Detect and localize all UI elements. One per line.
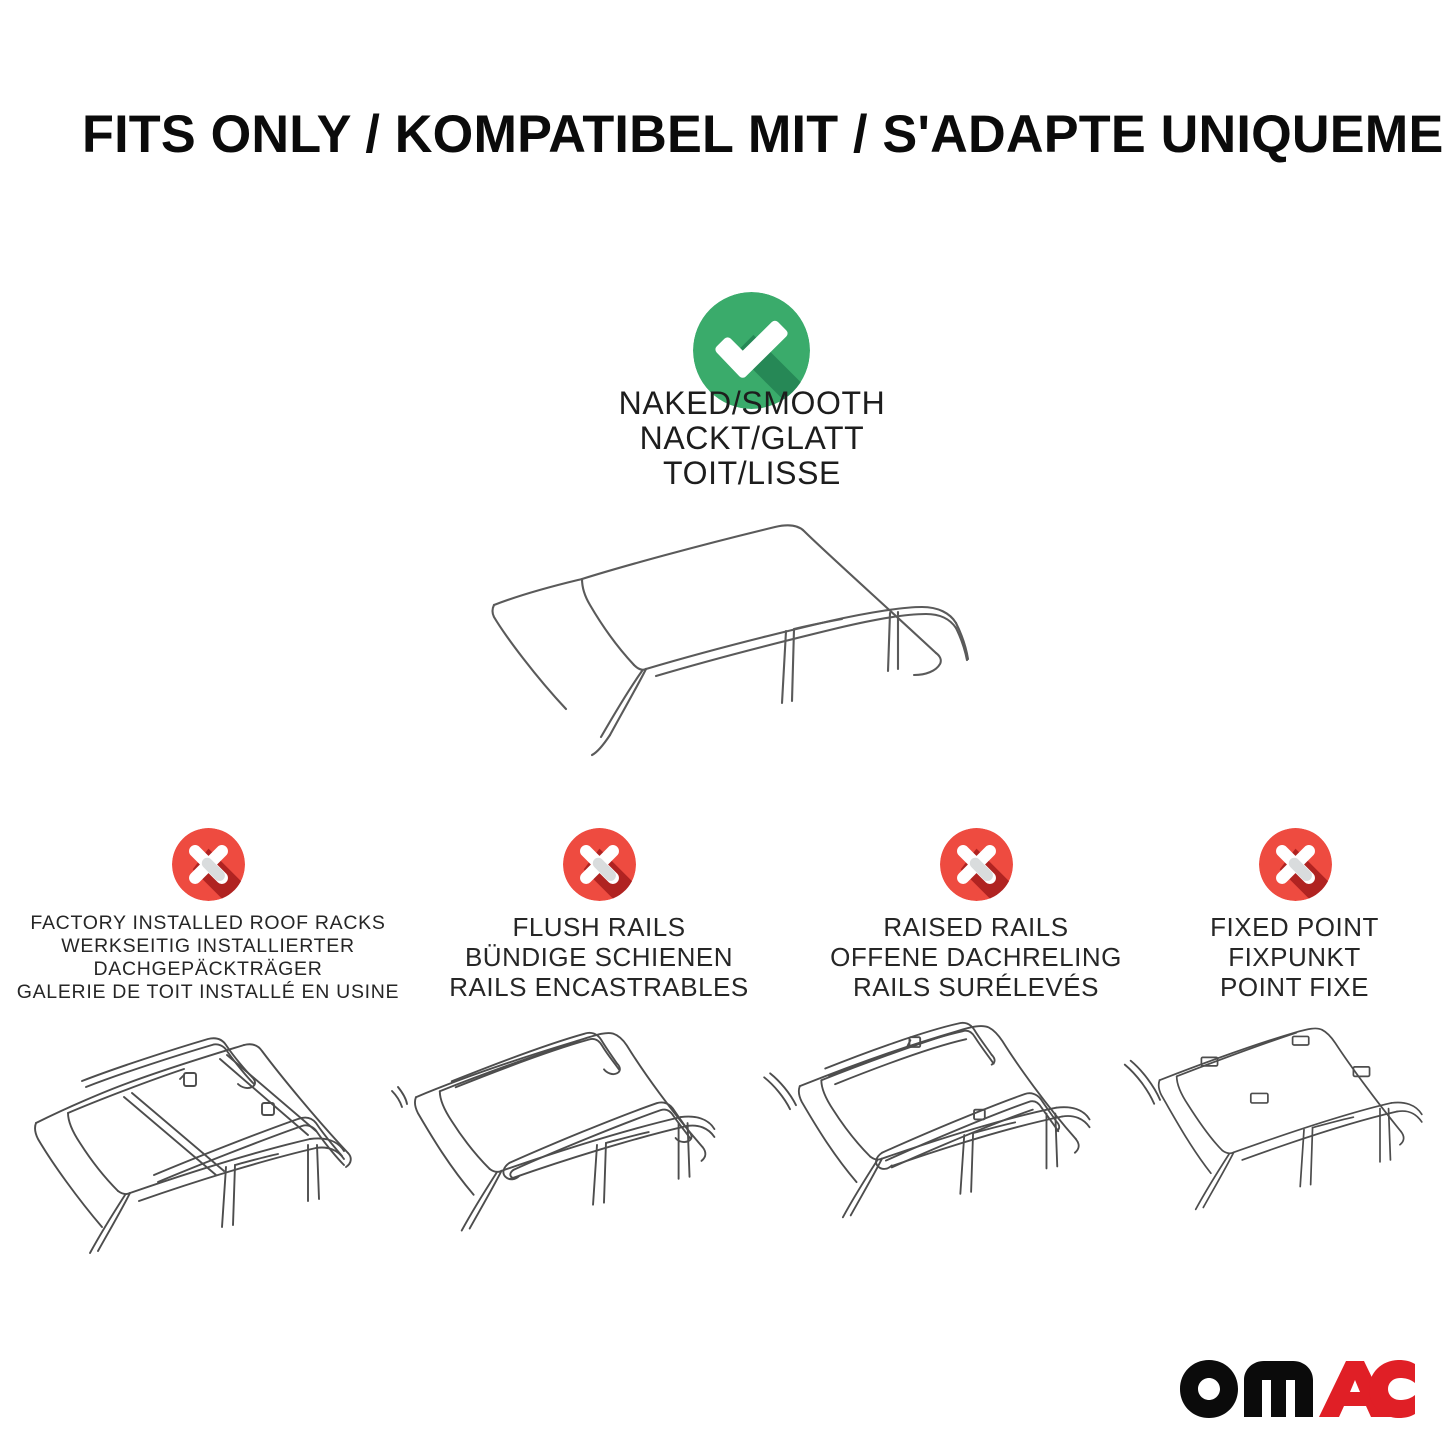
incompatible-item-factory-installed-roof-racks: FACTORY INSTALLED ROOF RACKS WERKSEITIG … <box>8 820 408 1290</box>
caption-line-de-2: DACHGEPÄCKTRÄGER <box>8 958 408 981</box>
car-roof-fixed-point-illustration <box>1152 1015 1437 1265</box>
caption-line-fr: GALERIE DE TOIT INSTALLÉ EN USINE <box>8 981 408 1004</box>
car-roof-factory-installed-roof-racks-illustration <box>8 1015 408 1265</box>
omac-logo <box>1178 1356 1418 1418</box>
compatible-line-de: NACKT/GLATT <box>522 421 982 456</box>
caption-line-de: OFFENE DACHRELING <box>790 942 1162 972</box>
caption-line-en: FACTORY INSTALLED ROOF RACKS <box>8 912 408 935</box>
caption-line-en: FIXED POINT <box>1152 912 1437 942</box>
incompatible-item-raised-rails: RAISED RAILS OFFENE DACHRELING RAILS SUR… <box>790 820 1162 1290</box>
cross-circle-icon <box>563 828 636 901</box>
compatible-caption: NAKED/SMOOTH NACKT/GLATT TOIT/LISSE <box>522 386 982 491</box>
caption-line-de-1: WERKSEITIG INSTALLIERTER <box>8 935 408 958</box>
incompatible-caption: FIXED POINT FIXPUNKT POINT FIXE <box>1152 912 1437 1002</box>
car-roof-flush-rails-illustration <box>400 1015 798 1265</box>
incompatible-item-flush-rails: FLUSH RAILS BÜNDIGE SCHIENEN RAILS ENCAS… <box>400 820 798 1290</box>
car-roof-raised-rails-illustration <box>790 1015 1162 1265</box>
incompatible-caption: FLUSH RAILS BÜNDIGE SCHIENEN RAILS ENCAS… <box>400 912 798 1002</box>
incompatible-caption: FACTORY INSTALLED ROOF RACKS WERKSEITIG … <box>8 912 408 1004</box>
caption-line-de: BÜNDIGE SCHIENEN <box>400 942 798 972</box>
car-roof-naked-smooth-illustration <box>470 495 990 765</box>
incompatible-caption: RAISED RAILS OFFENE DACHRELING RAILS SUR… <box>790 912 1162 1002</box>
caption-line-en: RAISED RAILS <box>790 912 1162 942</box>
caption-line-fr: POINT FIXE <box>1152 972 1437 1002</box>
caption-line-fr: RAILS SURÉLEVÉS <box>790 972 1162 1002</box>
page-title: FITS ONLY / KOMPATIBEL MIT / S'ADAPTE UN… <box>82 104 1363 166</box>
caption-line-fr: RAILS ENCASTRABLES <box>400 972 798 1002</box>
cross-circle-icon <box>1259 828 1332 901</box>
compatibility-infographic: FITS ONLY / KOMPATIBEL MIT / S'ADAPTE UN… <box>0 0 1445 1445</box>
cross-circle-icon <box>172 828 245 901</box>
incompatible-item-fixed-point: FIXED POINT FIXPUNKT POINT FIXE <box>1152 820 1437 1290</box>
compatible-line-fr: TOIT/LISSE <box>522 456 982 491</box>
caption-line-en: FLUSH RAILS <box>400 912 798 942</box>
cross-circle-icon <box>940 828 1013 901</box>
compatible-line-en: NAKED/SMOOTH <box>522 386 982 421</box>
caption-line-de: FIXPUNKT <box>1152 942 1437 972</box>
incompatible-row: FACTORY INSTALLED ROOF RACKS WERKSEITIG … <box>0 820 1445 1290</box>
